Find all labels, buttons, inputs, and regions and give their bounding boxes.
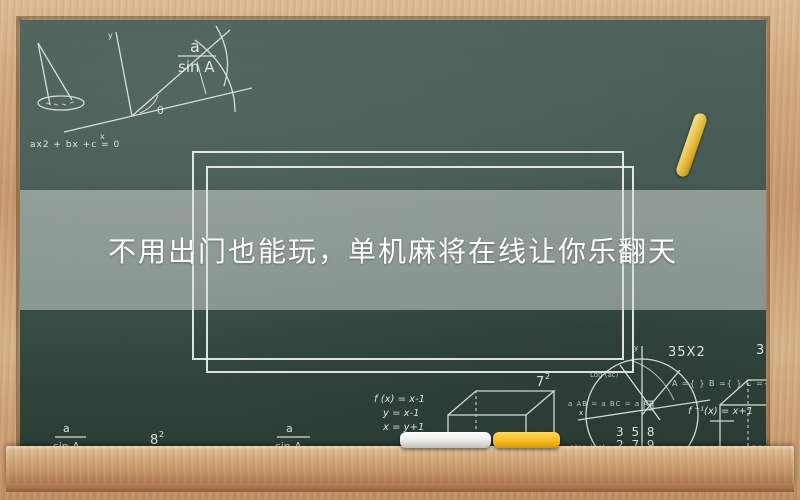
- chalk-stick-icon: [675, 112, 709, 179]
- chalk-sum-row1: 3 5 8: [616, 425, 657, 439]
- chalk-axis-x-right: x: [579, 409, 583, 417]
- chalk-set-line: a AB = a BC = a AB: [568, 400, 655, 408]
- chalk-frac2-num: a: [63, 422, 70, 435]
- chalk-frac-a-den: sin A: [178, 58, 215, 76]
- page-title: 不用出门也能玩，单机麻将在线让你乐翻天: [20, 190, 766, 310]
- chalk-eight-exp: 2: [159, 430, 164, 439]
- chalk-seven-exp: 2: [545, 372, 550, 381]
- chalk-axis-y-topleft: y: [108, 31, 113, 40]
- yellow-chalk-icon: [493, 432, 560, 448]
- chalk-sum-row2: 2 7 9: [616, 438, 657, 446]
- chalk-seven: 7: [536, 375, 544, 390]
- chalk-quadratic: ax2 + bx +c = 0: [30, 140, 120, 150]
- chalk-frac-a-num: a: [190, 37, 200, 56]
- chalk-mult-b: 3X2: [756, 343, 766, 358]
- chalk-tray: [6, 446, 794, 486]
- chalk-frac3-num: a: [286, 422, 293, 435]
- chalkboard-surface: a sin A y x θ ax2 + bx +c = 0 f (x) = x-…: [20, 20, 766, 446]
- chalkboard-banner-image: a sin A y x θ ax2 + bx +c = 0 f (x) = x-…: [0, 0, 800, 500]
- white-chalk-icon: [400, 432, 491, 448]
- chalk-y-eq: y = x-1: [382, 408, 420, 419]
- chalk-inverse-fn: f ⁻¹(x) = x+1: [688, 406, 753, 417]
- chalk-mult-a: 35X2: [668, 345, 706, 360]
- chalk-axis-y-right: y: [634, 344, 638, 352]
- angle-axes-drawing: [64, 26, 252, 132]
- chalk-angle-label: θ: [157, 104, 164, 117]
- chalk-axis-x-topleft: x: [100, 132, 105, 141]
- cube-drawing-right: [720, 380, 766, 446]
- chalk-tray-lip: [6, 483, 794, 492]
- chalk-set-expr: A ={ } B ={ } C ={ }: [672, 379, 766, 388]
- chalk-fx: f (x) = x-1: [374, 394, 425, 405]
- cone-drawing: [38, 43, 84, 110]
- chalk-eight: 8: [150, 433, 158, 446]
